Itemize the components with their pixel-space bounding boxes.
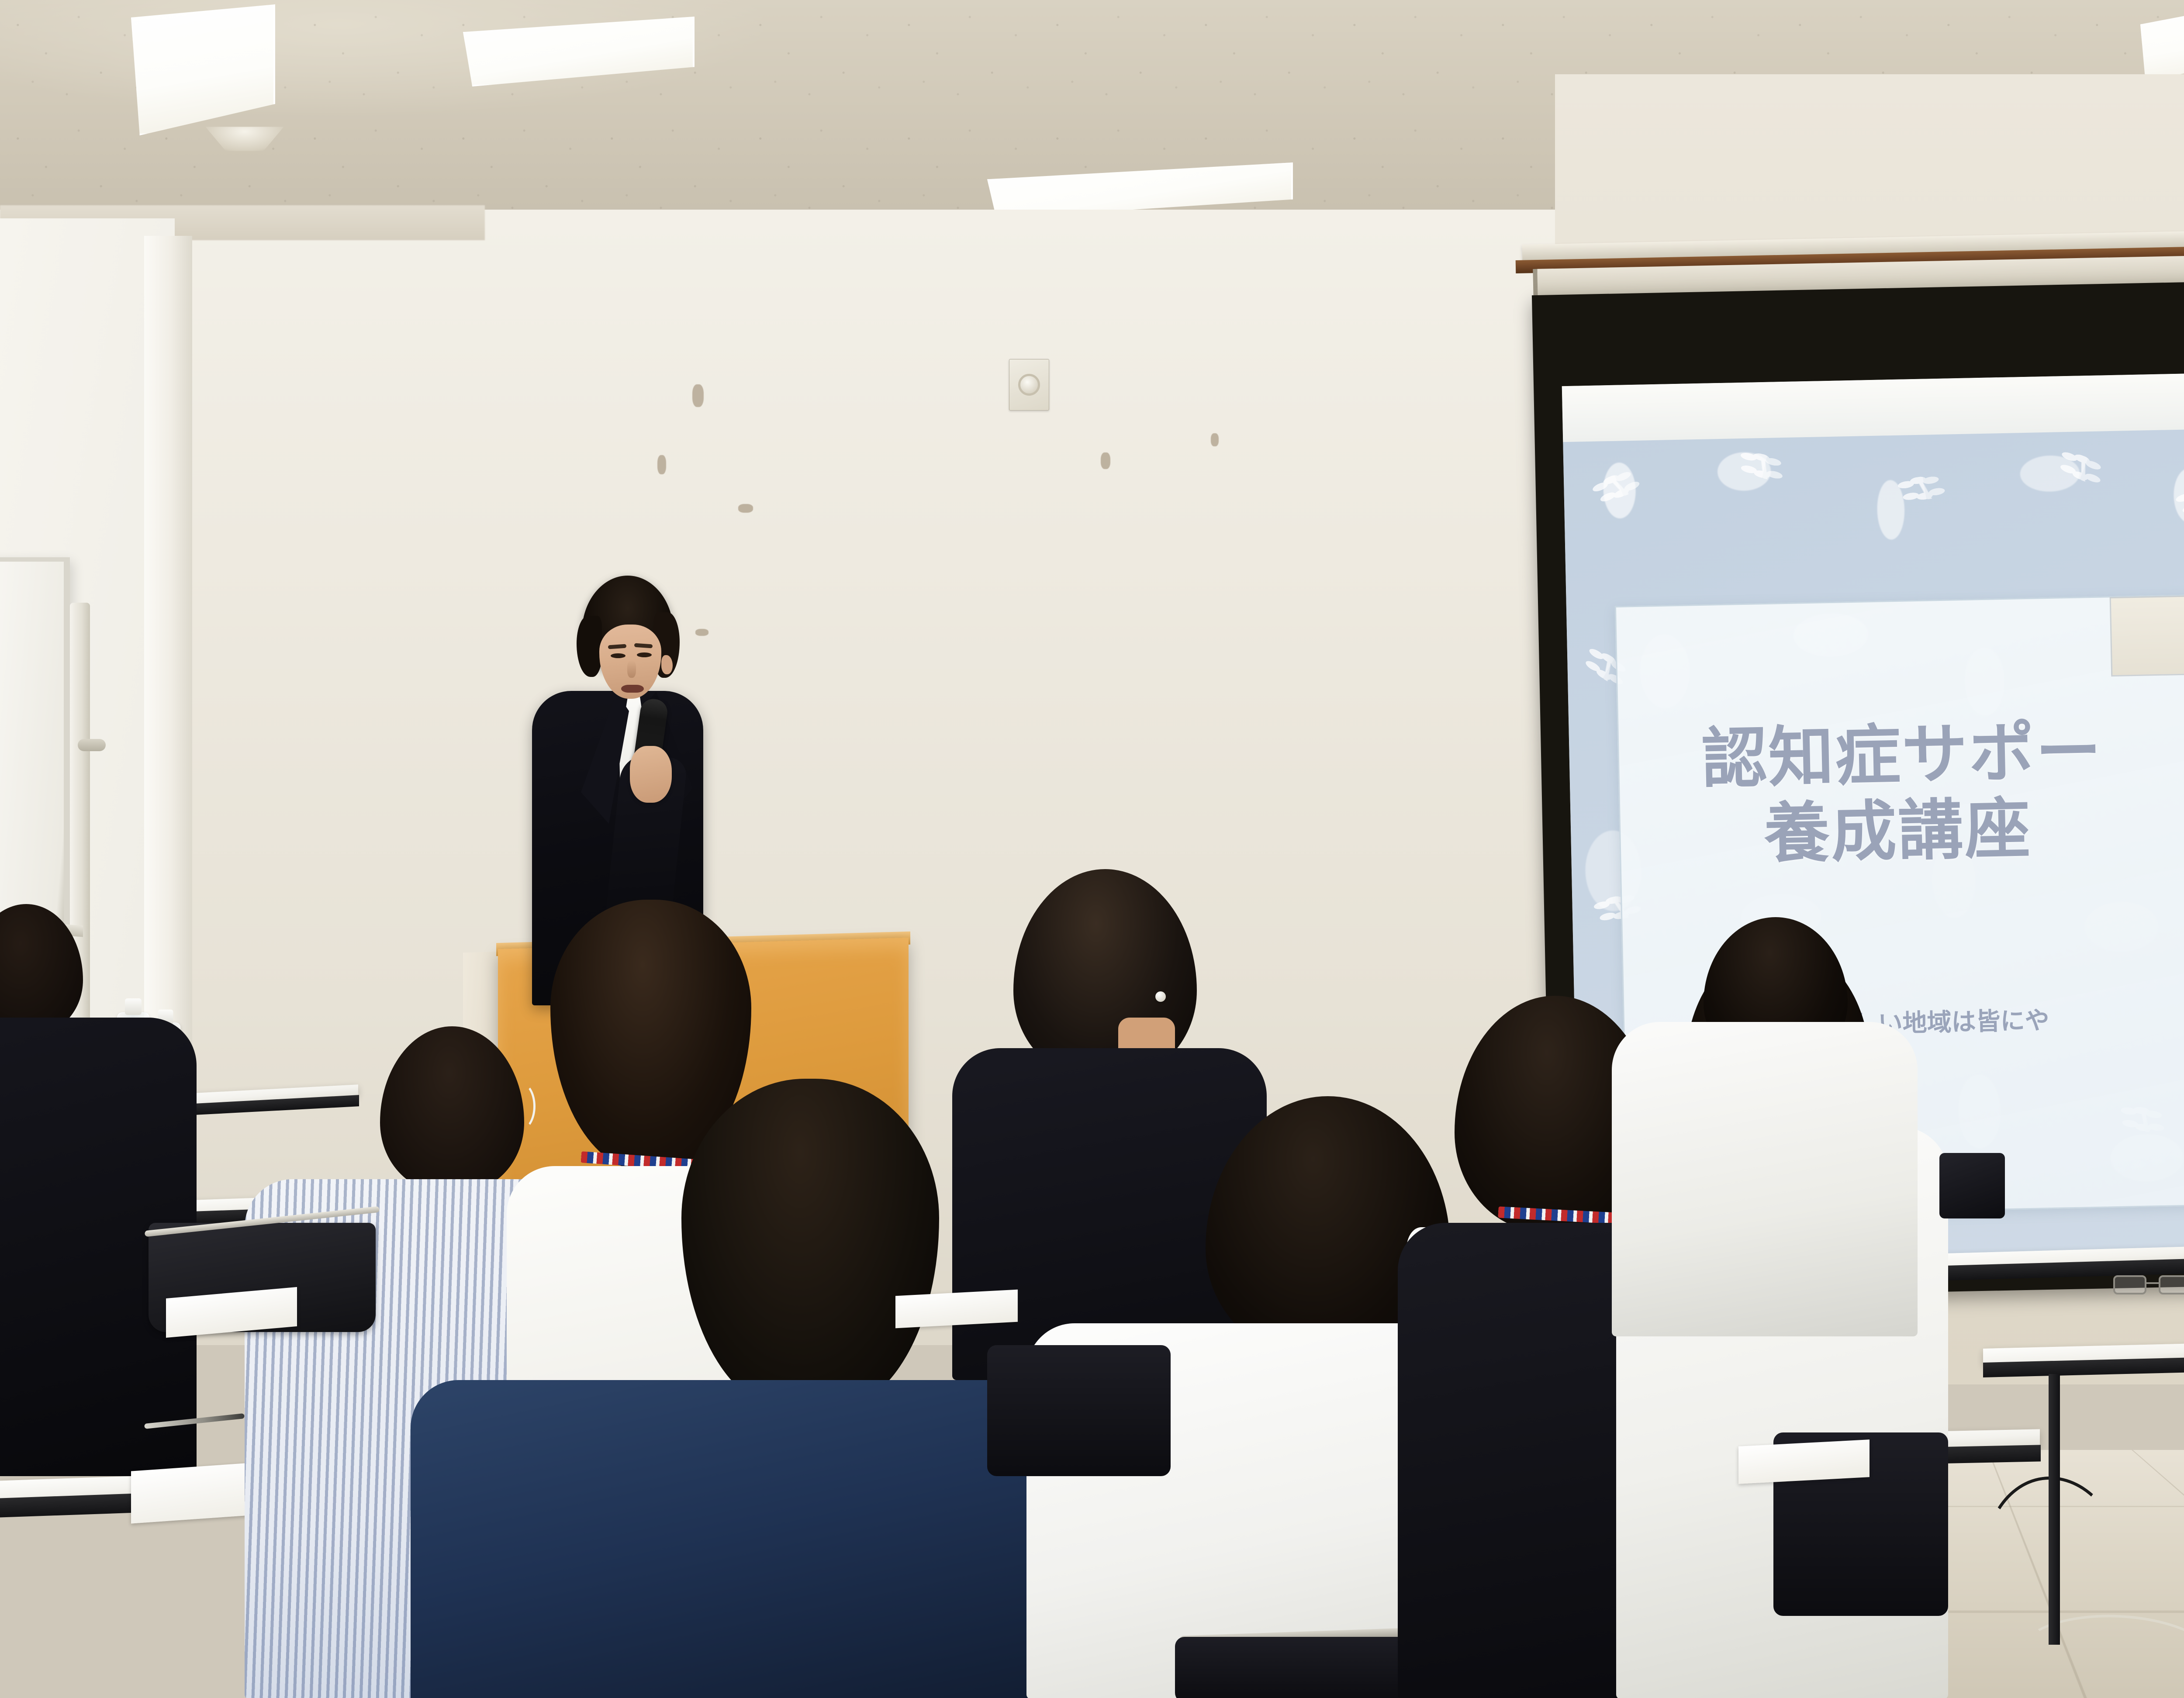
attendee-navy-work-shirt-head [681, 1079, 939, 1411]
face-mask-strap-striped [507, 1082, 536, 1130]
speaker-eye-right [637, 652, 652, 657]
handout-paper-right[interactable] [1738, 1439, 1870, 1484]
attendee-white-shirt-back-row-torso [1612, 1022, 1918, 1336]
speaker-mouth [621, 685, 644, 693]
handout-paper-centre[interactable] [895, 1290, 1018, 1329]
whiteboard [0, 557, 70, 928]
slide-title: 認知症サポー 養成講座 [1701, 714, 2105, 873]
speaker-eye-left [611, 653, 625, 658]
slide-card-tab [2109, 594, 2184, 676]
seminar-room-photo: A speaker with a microphone addresses a … [0, 0, 2184, 1698]
table-leg-r1 [2049, 1374, 2060, 1645]
speaker-nose [627, 660, 636, 678]
slide-title-line-2: 養成講座 [1702, 790, 2105, 873]
slide-title-line-1: 認知症サポー [1701, 714, 2103, 797]
av-equipment-box [1939, 1153, 2005, 1218]
eyeglasses[interactable] [2113, 1275, 2184, 1295]
chair-back-left [987, 1345, 1171, 1476]
wall-jack-plate[interactable] [1009, 359, 1049, 411]
earring [1155, 991, 1166, 1002]
speaker-ear [661, 655, 673, 674]
speaker-hand [630, 746, 672, 803]
whiteboard-height-knob[interactable] [78, 739, 106, 751]
